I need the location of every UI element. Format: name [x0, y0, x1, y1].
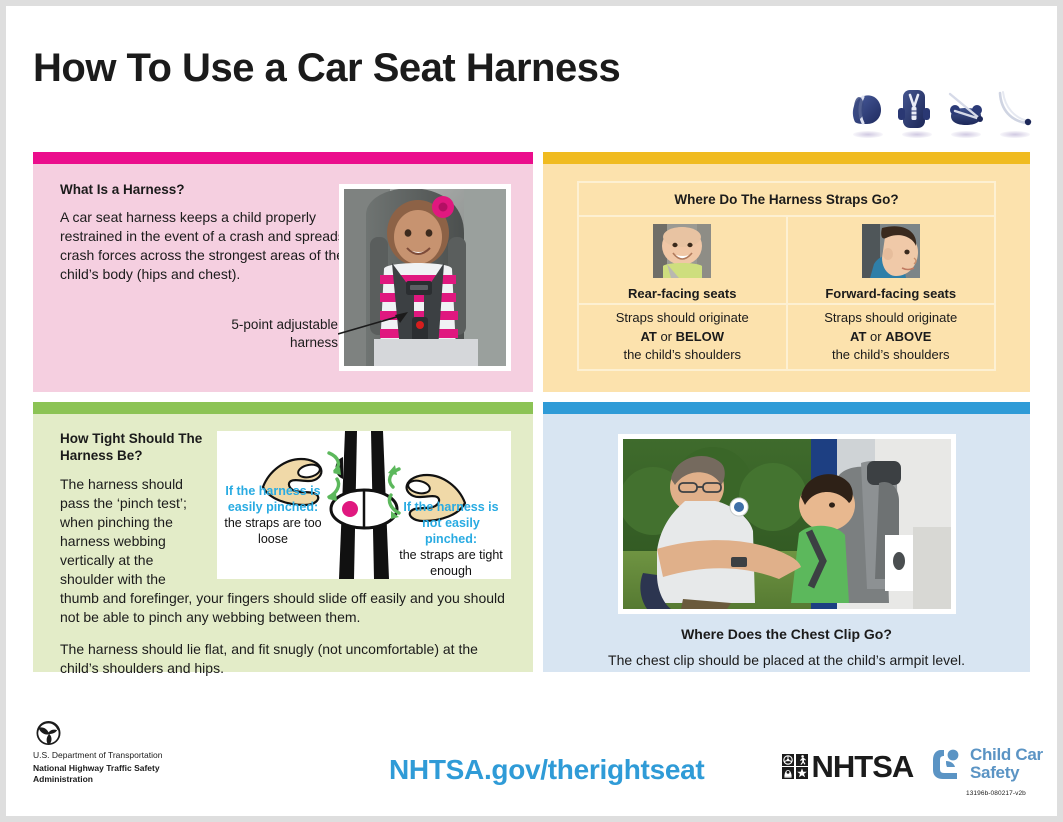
panel-accent-bar [543, 152, 1030, 164]
panel-accent-bar [33, 402, 533, 414]
forward-facing-conjunction: or [870, 329, 882, 344]
rear-facing-conjunction: or [660, 329, 672, 344]
where-column-top: Forward-facing seats [788, 217, 995, 305]
chest-clip-body-text: The chest clip should be placed at the c… [543, 652, 1030, 668]
icon-shadow [902, 131, 932, 138]
child-in-seat-icon [930, 747, 964, 781]
panel-where-straps-go: Where Do The Harness Straps Go? [543, 152, 1030, 392]
pinch-left-caption: If the harness is easily pinched: the st… [223, 483, 323, 547]
pinch-test-figure: If the harness is easily pinched: the st… [217, 431, 511, 579]
forward-facing-emphasis-1: AT [850, 329, 866, 344]
forward-facing-instruction: Straps should originate AT or ABOVE the … [788, 305, 995, 369]
forward-facing-thumbnail [862, 224, 920, 278]
tight-content: If the harness is easily pinched: the st… [60, 431, 511, 662]
what-heading: What Is a Harness? [60, 182, 350, 199]
steering-wheel-icon [782, 754, 794, 766]
icon-shadow [853, 131, 883, 138]
nhtsa-logo: NHTSA [782, 751, 913, 782]
infographic-page: How To Use a Car Seat Harness [6, 6, 1057, 816]
seat-belt-icon [995, 88, 1035, 136]
chest-clip-photo-frame [618, 434, 956, 614]
nhtsa-wordmark: NHTSA [812, 751, 914, 782]
panel-what-is-a-harness: What Is a Harness? A car seat harness ke… [33, 152, 533, 392]
document-code: 13196b-080217-v2b [966, 790, 1026, 797]
pinch-right-caption: If the harness is not easily pinched: th… [395, 499, 507, 579]
child-seat-icon [782, 767, 794, 779]
rear-facing-line3: the child’s shoulders [623, 346, 741, 364]
pinch-right-body: the straps are tight enough [395, 547, 507, 579]
forward-facing-line2: AT or ABOVE [850, 328, 931, 346]
chest-clip-photo [623, 439, 951, 609]
forward-facing-seat-icon [897, 88, 937, 136]
where-column-rear-facing: Rear-facing seats Straps should originat… [579, 217, 786, 369]
callout-arrow-icon [338, 312, 413, 340]
icon-shadow [1000, 131, 1030, 138]
panel-chest-clip: Where Does the Chest Clip Go? The chest … [543, 402, 1030, 672]
child-car-safety-logo: Child Car Safety [930, 746, 1043, 782]
where-title: Where Do The Harness Straps Go? [674, 192, 898, 207]
dot-agency-line: U.S. Department of Transportation [33, 750, 162, 760]
rear-facing-line2: AT or BELOW [640, 328, 724, 346]
where-column-top: Rear-facing seats [579, 217, 786, 305]
forward-facing-line3: the child’s shoulders [832, 346, 950, 364]
nhtsa-url-link[interactable]: NHTSA.gov/therightseat [389, 754, 704, 786]
harness-photo-frame [339, 184, 511, 371]
callout-5-point-harness: 5-point adjustable harness [223, 316, 338, 351]
where-column-forward-facing: Forward-facing seats Straps should origi… [786, 217, 995, 369]
header: How To Use a Car Seat Harness [6, 6, 1057, 148]
rear-facing-emphasis-1: AT [640, 329, 656, 344]
rear-facing-instruction: Straps should originate AT or BELOW the … [579, 305, 786, 369]
panel-accent-bar [543, 402, 1030, 414]
pinch-left-highlight: If the harness is easily pinched: [223, 483, 323, 515]
ccs-line-1: Child Car [970, 746, 1043, 764]
rear-facing-line1: Straps should originate [616, 309, 749, 327]
where-straps-table: Where Do The Harness Straps Go? [577, 181, 996, 371]
pinch-right-highlight: If the harness is not easily pinched: [395, 499, 507, 547]
panel-body: Where Does the Chest Clip Go? The chest … [543, 414, 1030, 672]
panel-how-tight: If the harness is easily pinched: the st… [33, 402, 533, 672]
star-icon [796, 767, 808, 779]
booster-seat-icon [946, 88, 986, 136]
seat-type-icon-row [848, 88, 1035, 136]
rear-facing-thumbnail [653, 224, 711, 278]
pedestrian-icon [796, 754, 808, 766]
panel-accent-bar [33, 152, 533, 164]
what-text-block: What Is a Harness? A car seat harness ke… [60, 182, 350, 283]
panel-body: If the harness is easily pinched: the st… [33, 414, 533, 672]
panel-body: What Is a Harness? A car seat harness ke… [33, 164, 533, 392]
icon-shadow [951, 131, 981, 138]
pinch-left-body: the straps are too loose [223, 515, 323, 547]
forward-facing-label: Forward-facing seats [825, 286, 956, 301]
nhtsa-agency-name: National Highway Traffic Safety Administ… [33, 763, 213, 786]
forward-facing-emphasis-2: ABOVE [885, 329, 931, 344]
page-title: How To Use a Car Seat Harness [33, 46, 620, 91]
rear-facing-emphasis-2: BELOW [676, 329, 724, 344]
where-table-header: Where Do The Harness Straps Go? [579, 183, 994, 217]
chest-clip-heading: Where Does the Chest Clip Go? [543, 626, 1030, 642]
panel-body: Where Do The Harness Straps Go? [543, 164, 1030, 392]
rear-facing-label: Rear-facing seats [628, 286, 736, 301]
child-car-safety-wordmark: Child Car Safety [970, 746, 1043, 782]
dot-triskelion-logo [36, 720, 61, 746]
where-columns: Rear-facing seats Straps should originat… [579, 217, 994, 369]
ccs-line-2: Safety [970, 764, 1043, 782]
what-body-text: A car seat harness keeps a child properl… [60, 208, 350, 284]
rear-facing-seat-icon [848, 88, 888, 136]
tight-paragraph-2: The harness should lie flat, and fit snu… [60, 640, 511, 678]
nhtsa-pictogram-grid [782, 754, 808, 780]
forward-facing-line1: Straps should originate [824, 309, 957, 327]
